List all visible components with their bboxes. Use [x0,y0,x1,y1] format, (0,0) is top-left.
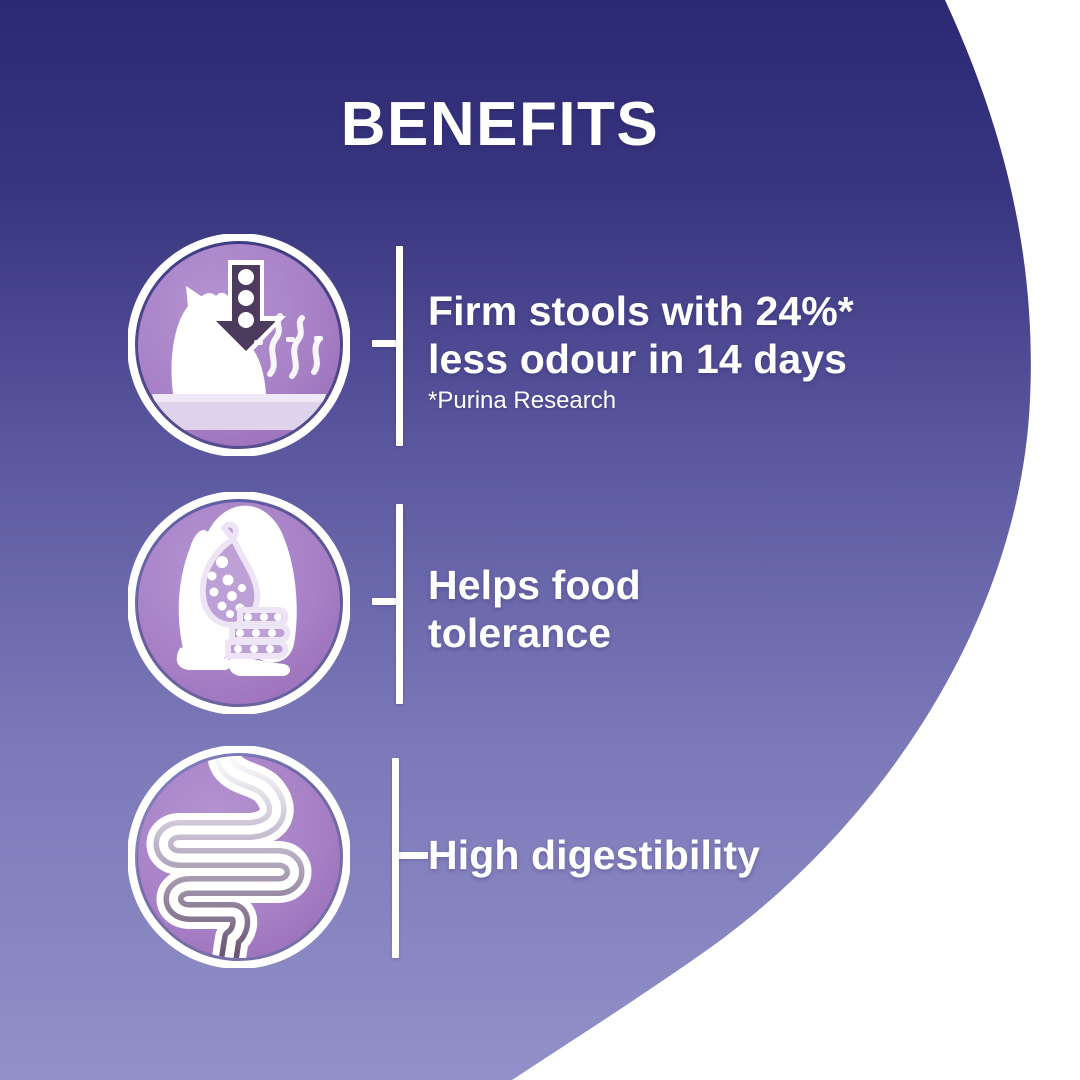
benefit-headline-line1: Firm stools with 24%* [428,288,968,336]
divider-tick [372,598,398,605]
benefit-headline-line2: tolerance [428,610,968,658]
benefit-item-3: High digestibility [0,744,1080,974]
benefit-headline-line2: less odour in 14 days [428,336,968,384]
divider-tick [372,340,398,347]
benefit-headline-line1: High digestibility [428,832,968,880]
benefit-divider-2 [372,490,412,712]
cat-litter-tray-odour-icon [128,234,350,456]
divider-tick [396,852,428,859]
benefit-divider-1 [372,232,412,454]
divider-line [396,246,403,446]
benefit-item-2: Helps food tolerance [0,490,1080,720]
divider-line [392,758,399,958]
benefit-text-3: High digestibility [428,832,968,880]
benefit-item-1: Firm stools with 24%* less odour in 14 d… [0,232,1080,462]
benefit-note: *Purina Research [428,387,968,415]
page-title: BENEFITS [0,92,1000,157]
benefit-text-2: Helps food tolerance [428,562,968,657]
benefit-text-1: Firm stools with 24%* less odour in 14 d… [428,288,968,415]
cat-digestive-system-icon [128,492,350,714]
benefit-divider-3 [372,744,412,966]
benefit-headline-line1: Helps food [428,562,968,610]
benefits-poster: BENEFITS [0,0,1080,1080]
intestine-gut-icon [128,746,350,968]
divider-line [396,504,403,704]
